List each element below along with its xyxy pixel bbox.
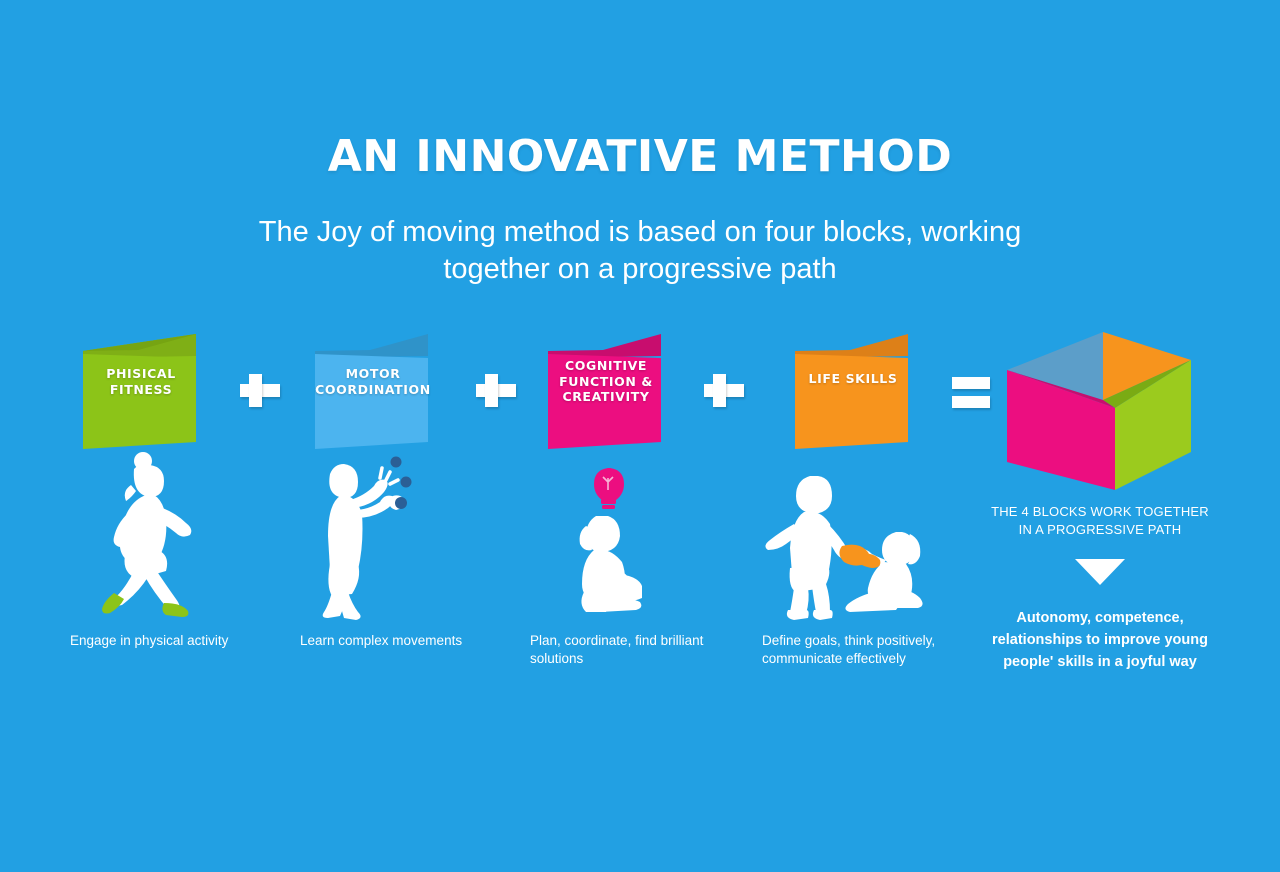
result-summary-text: Autonomy, competence, relationships to i… <box>990 607 1210 673</box>
plus-vertical-bar <box>713 374 726 407</box>
plus-vertical-bar <box>485 374 498 407</box>
equals-top-bar <box>952 377 990 389</box>
page-subtitle: The Joy of moving method is based on fou… <box>240 214 1040 288</box>
result-cube <box>995 310 1200 500</box>
juggling-boy-silhouette <box>318 452 433 622</box>
slide-canvas: AN INNOVATIVE METHOD The Joy of moving m… <box>0 0 1280 872</box>
thinking-child-silhouette <box>570 462 675 624</box>
page-title: AN INNOVATIVE METHOD <box>0 134 1280 180</box>
caption-phisical-fitness: Engage in physical activity <box>70 632 260 650</box>
figure-juggling-boy <box>318 452 433 622</box>
caption-cognitive-function: Plan, coordinate, find brilliant solutio… <box>530 632 710 668</box>
result-caption: THE 4 BLOCKS WORK TOGETHERIN A PROGRESSI… <box>985 503 1215 540</box>
plus-vertical-bar <box>249 374 262 407</box>
operator-plus-1 <box>236 366 284 414</box>
block-phisical-fitness[interactable]: PHISICALFITNESS <box>78 316 208 451</box>
running-girl-silhouette <box>98 447 213 622</box>
joined-hands <box>839 545 880 568</box>
lightbulb-icon <box>594 468 624 509</box>
down-arrow-icon <box>1075 559 1125 585</box>
block-shape-blue <box>310 316 440 456</box>
block-motor-coordination[interactable]: MOTORCOORDINATION <box>310 316 440 451</box>
figure-children-helping <box>762 470 937 625</box>
caption-motor-coordination: Learn complex movements <box>300 632 490 650</box>
caption-life-skills: Define goals, think positively, communic… <box>762 632 947 668</box>
children-helping-silhouette <box>762 470 937 625</box>
operator-plus-2 <box>472 366 520 414</box>
block-shape-green <box>78 316 208 456</box>
cube-shape <box>995 310 1200 495</box>
operator-equals <box>948 366 996 414</box>
figure-running-girl <box>98 447 213 622</box>
block-cognitive-function-creativity[interactable]: COGNITIVEFUNCTION &CREATIVITY <box>543 316 673 451</box>
figure-thinking-child <box>570 462 675 624</box>
operator-plus-3 <box>700 366 748 414</box>
block-shape-pink <box>543 316 673 456</box>
block-life-skills[interactable]: LIFE SKILLS <box>790 316 920 451</box>
equals-bottom-bar <box>952 396 990 408</box>
block-shape-orange <box>790 316 920 456</box>
